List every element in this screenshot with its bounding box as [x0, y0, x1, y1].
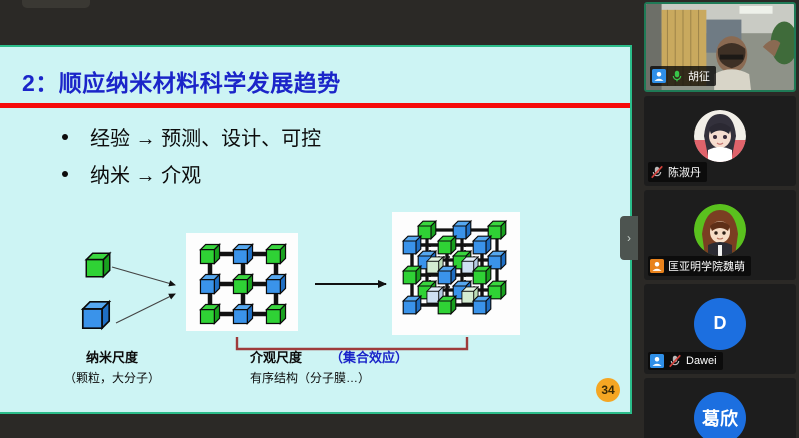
microphone-icon: [670, 69, 684, 83]
converging-arrows: [112, 267, 175, 323]
lattice-3d: [403, 221, 506, 314]
participant-nameplate: 胡征: [650, 66, 716, 86]
meso-scale-subtitle: 有序结构（分子膜…）: [250, 369, 408, 386]
title-divider: [0, 103, 630, 108]
meso-scale-label: 介观尺度 （集合效应） 有序结构（分子膜…）: [250, 347, 408, 386]
microphone-muted-icon: [668, 354, 682, 368]
scale-progression-diagram: [0, 197, 630, 357]
nano-scale-subtitle: （颗粒，大分子）: [64, 369, 160, 386]
avatar: [694, 204, 746, 256]
meso-scale-title: 介观尺度: [250, 347, 302, 366]
person-icon: [652, 69, 666, 83]
slide-bullet-list: 经验 → 预测、设计、可控 纳米 → 介观: [62, 122, 321, 196]
meeting-window: 2：顺应纳米材料科学发展趋势 经验 → 预测、设计、可控 纳米 → 介观: [0, 0, 799, 438]
bullet-text: 经验 → 预测、设计、可控: [90, 122, 321, 151]
bullet-text: 纳米 → 介观: [90, 159, 201, 188]
microphone-muted-icon: [650, 165, 664, 179]
bullet-item: 纳米 → 介观: [62, 159, 321, 188]
avatar: 葛欣: [694, 392, 746, 438]
bullet-dot-icon: [62, 171, 68, 177]
nano-scale-title: 纳米尺度: [64, 347, 160, 366]
single-cube-blue: [83, 302, 109, 328]
chevron-right-icon: ›: [627, 231, 631, 245]
participant-name: 陈淑丹: [668, 164, 701, 180]
person-icon: [650, 259, 664, 273]
slide-title: 2：顺应纳米材料科学发展趋势: [22, 64, 341, 98]
meso-scale-effect: （集合效应）: [330, 347, 408, 366]
presentation-slide: 2：顺应纳米材料科学发展趋势 经验 → 预测、设计、可控 纳米 → 介观: [0, 47, 630, 412]
participant-tile[interactable]: 葛欣: [644, 378, 796, 438]
toolbar-stub[interactable]: [22, 0, 90, 8]
participant-tile[interactable]: 匡亚明学院魏萌: [644, 190, 796, 280]
nano-scale-label: 纳米尺度 （颗粒，大分子）: [64, 347, 160, 386]
person-icon: [650, 354, 664, 368]
diagram-svg: [0, 197, 630, 357]
participant-rail[interactable]: 胡征: [641, 0, 799, 438]
avatar: D: [694, 298, 746, 350]
participant-nameplate: 陈淑丹: [648, 162, 707, 182]
shared-screen-stage[interactable]: 2：顺应纳米材料科学发展趋势 经验 → 预测、设计、可控 纳米 → 介观: [0, 45, 632, 414]
participant-name: 匡亚明学院魏萌: [668, 258, 745, 274]
participant-name: 胡征: [688, 68, 710, 84]
single-cube-green: [86, 253, 109, 276]
slide-page-number: 34: [596, 378, 620, 402]
participant-tile[interactable]: 胡征: [644, 2, 796, 92]
meso-scale-headline: 介观尺度 （集合效应）: [250, 347, 408, 366]
participant-nameplate: 匡亚明学院魏萌: [648, 256, 751, 276]
bullet-item: 经验 → 预测、设计、可控: [62, 122, 321, 151]
avatar: [694, 110, 746, 162]
lattice-2d: [200, 244, 285, 323]
collapse-panel-toggle[interactable]: ›: [620, 216, 638, 260]
participant-name: Dawei: [686, 355, 717, 367]
participant-tile[interactable]: D Dawei: [644, 284, 796, 374]
participant-nameplate: Dawei: [648, 352, 723, 370]
bullet-dot-icon: [62, 134, 68, 140]
participant-tile[interactable]: 陈淑丹: [644, 96, 796, 186]
